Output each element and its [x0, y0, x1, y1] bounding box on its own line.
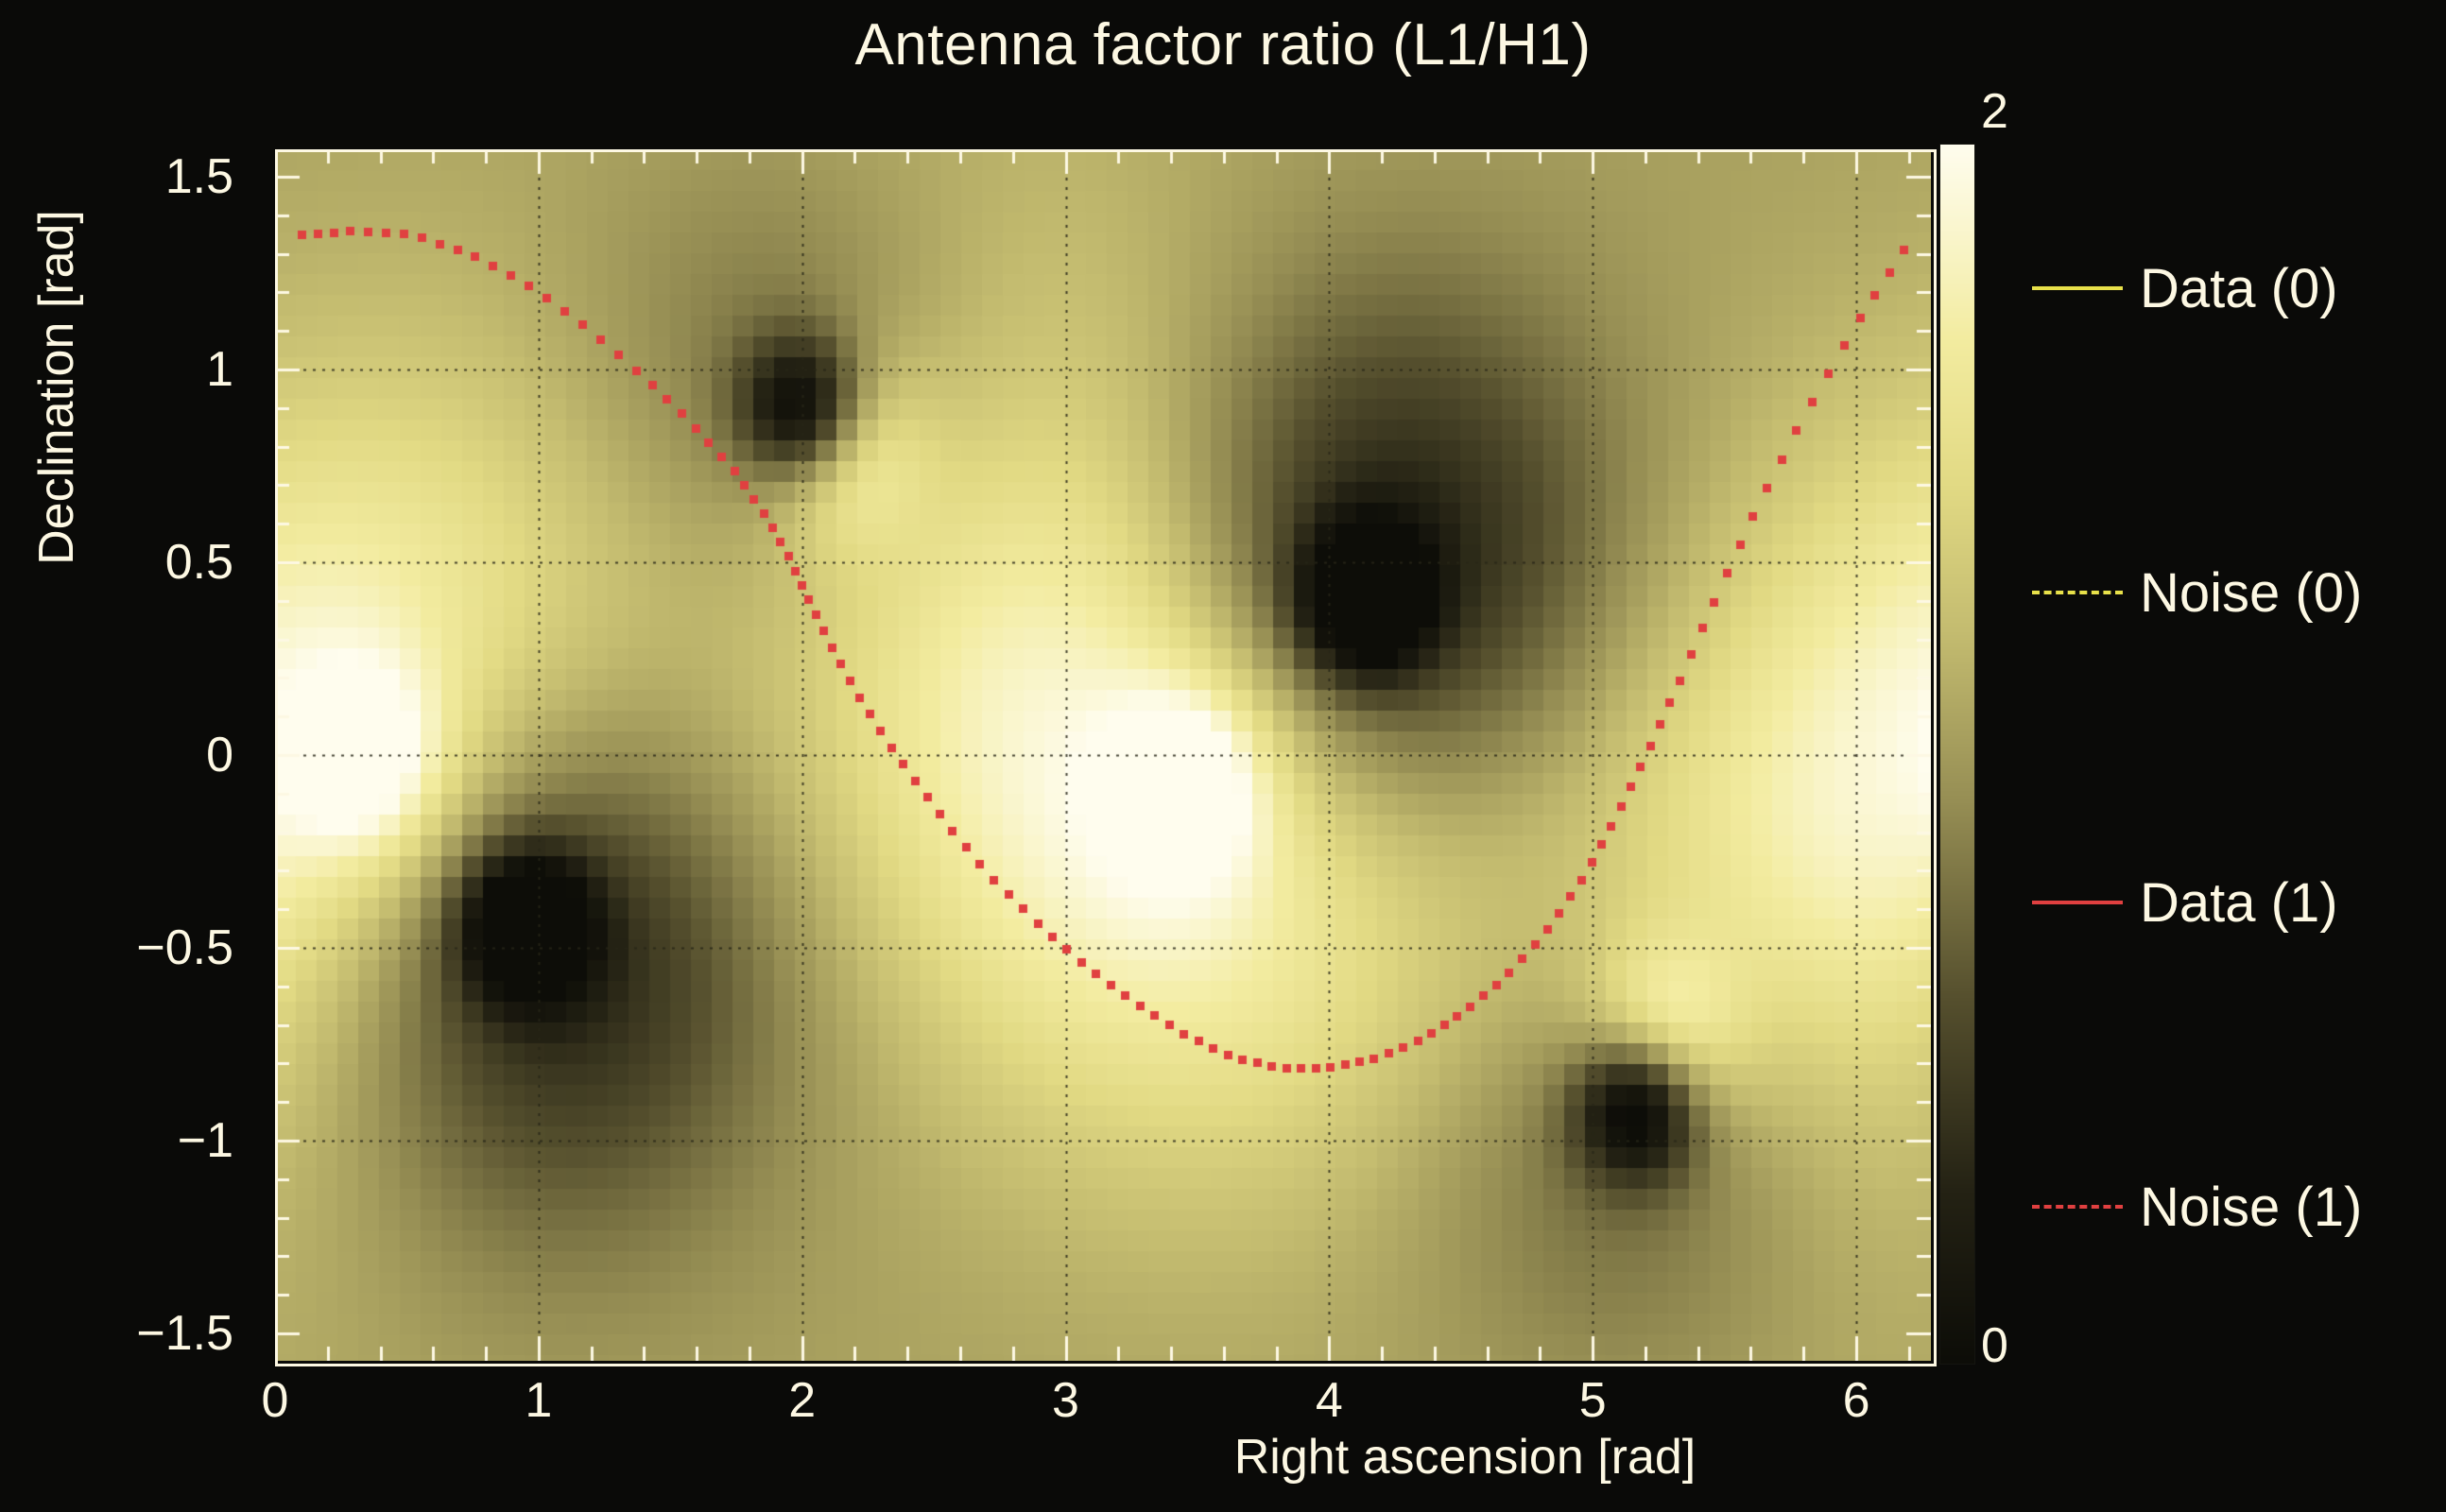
colorbar	[1939, 144, 1975, 1365]
legend-item-label: Noise (0)	[2140, 561, 2362, 625]
y-tick-label: −1.5	[136, 1305, 233, 1362]
legend-item-noise-0[interactable]: Noise (0)	[2032, 541, 2362, 644]
x-tick-label: 6	[1843, 1372, 1870, 1429]
legend-item-label: Noise (1)	[2140, 1176, 2362, 1239]
colorbar-tick-label: 0	[1981, 1317, 2008, 1374]
legend-line-swatch	[2032, 286, 2123, 290]
legend-item-label: Data (0)	[2140, 257, 2338, 320]
y-tick-label: −0.5	[136, 919, 233, 976]
legend-item-noise-1[interactable]: Noise (1)	[2032, 1155, 2362, 1259]
legend-line-swatch	[2032, 591, 2123, 594]
legend-line-swatch	[2032, 901, 2123, 904]
x-tick-label: 1	[525, 1372, 552, 1429]
legend-item-label: Data (1)	[2140, 871, 2338, 935]
legend-item-data-0[interactable]: Data (0)	[2032, 236, 2338, 340]
x-tick-label: 0	[262, 1372, 289, 1429]
legend[interactable]: Data (0)Noise (0)Data (1)Noise (1)	[2032, 149, 2446, 1361]
y-tick-label: 0.5	[165, 534, 233, 591]
y-tick-label: 0	[206, 727, 233, 783]
legend-line-swatch	[2032, 1205, 2123, 1209]
x-tick-label: 2	[788, 1372, 816, 1429]
x-tick-label: 5	[1579, 1372, 1607, 1429]
heatmap-plot-area[interactable]	[275, 149, 1931, 1361]
legend-item-data-1[interactable]: Data (1)	[2032, 850, 2338, 954]
colorbar-tick-label: 2	[1981, 83, 2008, 140]
x-tick-label: 4	[1316, 1372, 1343, 1429]
x-axis-title: Right ascension [rad]	[1040, 1429, 1890, 1486]
page-title: Antenna factor ratio (L1/H1)	[0, 11, 2446, 78]
heatmap-canvas	[275, 149, 1931, 1361]
y-axis-title: Declination [rad]	[28, 142, 85, 633]
y-tick-label: 1.5	[165, 148, 233, 205]
y-tick-label: 1	[206, 341, 233, 398]
y-tick-label: −1	[178, 1112, 233, 1169]
x-tick-label: 3	[1052, 1372, 1079, 1429]
